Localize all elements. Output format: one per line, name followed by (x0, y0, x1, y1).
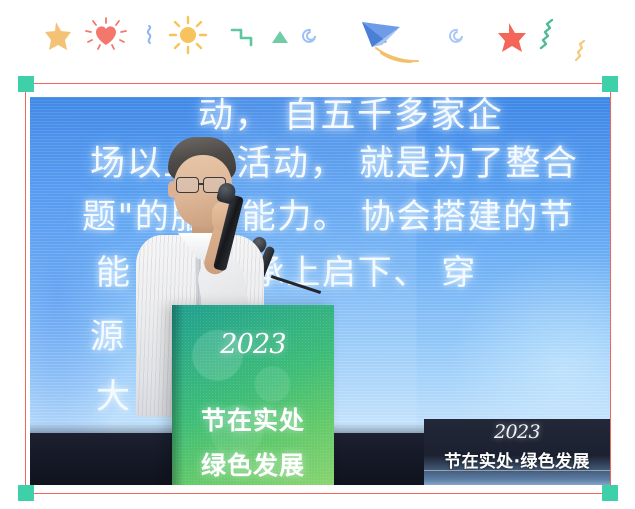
frame-corner-top-left (18, 76, 34, 92)
speaker-glasses-bridge (199, 183, 204, 185)
zigzag-doodle-yellow (576, 41, 584, 60)
banner-slogan: 节在实处·绿色发展 (424, 447, 610, 472)
frame-corner-bottom-right (602, 485, 618, 501)
zigzag-doodle-green (232, 30, 251, 45)
spiral-doodle-blue (303, 30, 315, 42)
podium: 2023 节在实处 绿色发展 (172, 305, 334, 485)
zigzag-doodle-green-2 (541, 20, 552, 48)
frame-corner-top-right (602, 76, 618, 92)
heart-burst-doodle (86, 18, 126, 49)
star-doodle-red (498, 23, 526, 52)
triangle-doodle-green (272, 31, 288, 43)
podium-year-script: 2023 (172, 329, 334, 360)
banner-year-script: 2023 (424, 421, 610, 443)
frame-corner-bottom-left (18, 485, 34, 501)
spiral-doodle-blue-2 (450, 30, 462, 42)
podium-slogan-line-1: 节在实处 (172, 401, 334, 437)
podium-slogan-line-2: 绿色发展 (172, 446, 334, 482)
paper-plane-doodle (362, 22, 418, 62)
decorative-doodle-strip (0, 0, 635, 74)
speaker-glasses-left-lens (176, 177, 199, 193)
squiggle-doodle-blue (148, 26, 150, 43)
page-root: 动， 自五千多家企 场以上的活动， 就是为了整合 题"的服务能力。 协会搭建的节… (0, 0, 635, 509)
doodle-svg (0, 0, 635, 74)
star-doodle-yellow (45, 22, 71, 50)
sun-doodle (170, 17, 206, 53)
banner-underline (424, 470, 610, 472)
event-banner: 2023 节在实处·绿色发展 (424, 419, 610, 485)
conference-speaker-photo: 动， 自五千多家企 场以上的活动， 就是为了整合 题"的服务能力。 协会搭建的节… (30, 97, 610, 485)
